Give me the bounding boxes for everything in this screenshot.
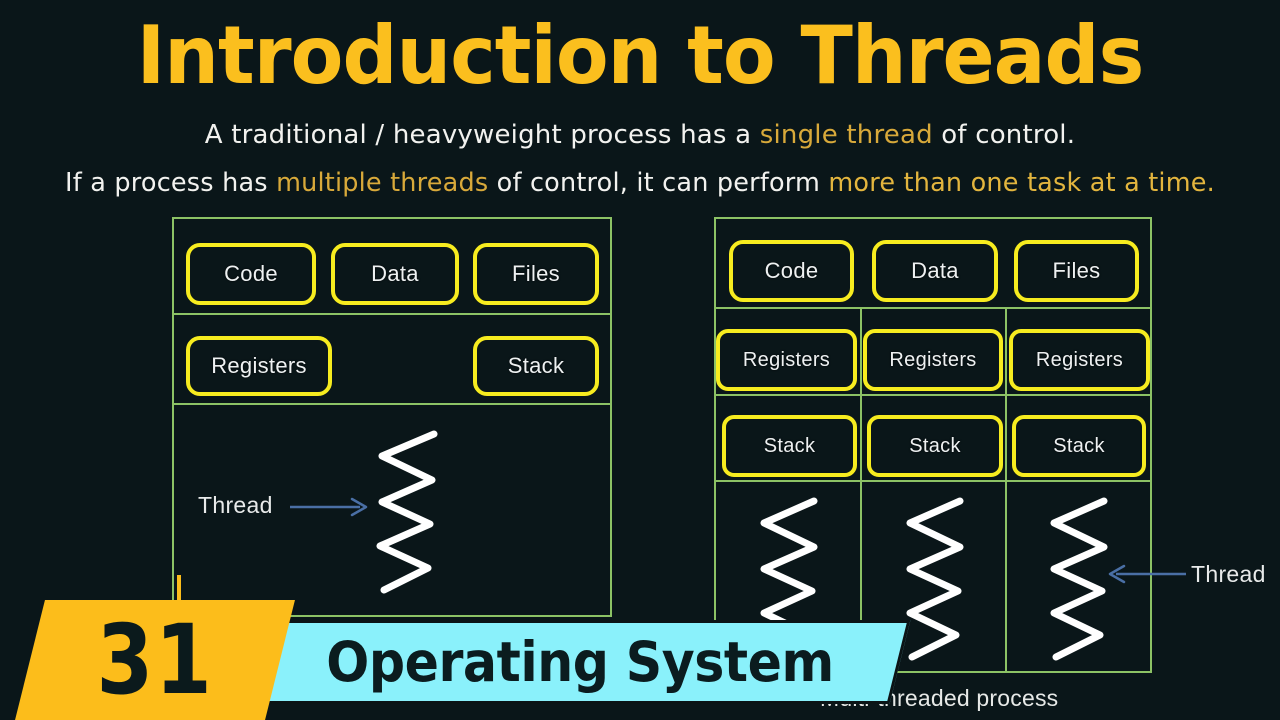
right-box-data: Data	[872, 240, 998, 302]
subtitle-2-part-1: If a process has	[65, 168, 276, 198]
thread-squiggle-right-2	[902, 495, 972, 665]
subtitle-1-part-1: A traditional / heavyweight process has …	[205, 120, 760, 150]
right-box-code: Code	[729, 240, 854, 302]
left-box-files: Files	[473, 243, 599, 305]
right-box-stack-1: Stack	[722, 415, 857, 477]
thread-arrow-left	[290, 495, 372, 524]
right-vertical-separator-1	[860, 309, 862, 671]
left-box-stack: Stack	[473, 336, 599, 396]
right-box-registers-1: Registers	[716, 329, 857, 391]
thread-label-right: Thread	[1191, 561, 1266, 588]
right-box-registers-2: Registers	[863, 329, 1003, 391]
thread-arrow-right	[1104, 562, 1186, 591]
subtitle-1-highlight: single thread	[760, 120, 933, 150]
subtitle-line-2: If a process has multiple threads of con…	[0, 168, 1280, 198]
subtitle-2-highlight-2: more than one task at a time.	[828, 168, 1215, 198]
right-box-registers-3: Registers	[1009, 329, 1150, 391]
thread-squiggle-left	[372, 428, 442, 598]
left-box-data: Data	[331, 243, 459, 305]
subtitle-2-part-2: of control, it can perform	[488, 168, 828, 198]
slide-canvas: Introduction to Threads A traditional / …	[0, 0, 1280, 720]
right-box-stack-2: Stack	[867, 415, 1003, 477]
right-box-stack-3: Stack	[1012, 415, 1146, 477]
subtitle-1-part-2: of control.	[933, 120, 1075, 150]
left-box-registers: Registers	[186, 336, 332, 396]
page-title: Introduction to Threads	[26, 6, 1255, 106]
lesson-number-label: 31	[57, 600, 253, 720]
thread-label-left: Thread	[198, 492, 273, 519]
right-vertical-separator-2	[1005, 309, 1007, 671]
course-name-label: Operating System	[304, 620, 856, 704]
right-box-files: Files	[1014, 240, 1139, 302]
left-box-code: Code	[186, 243, 316, 305]
subtitle-2-highlight-1: multiple threads	[276, 168, 488, 198]
subtitle-line-1: A traditional / heavyweight process has …	[0, 120, 1280, 150]
